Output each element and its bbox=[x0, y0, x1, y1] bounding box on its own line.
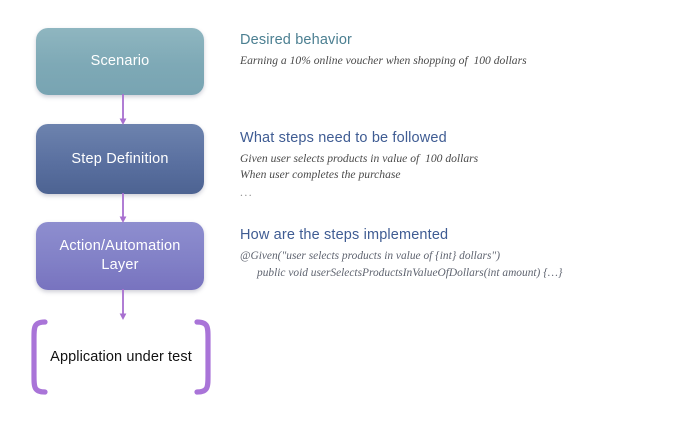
annotation-line: When user completes the purchase bbox=[240, 167, 692, 183]
flow-node-label: Step Definition bbox=[63, 150, 176, 169]
code-line: public void userSelectsProductsInValueOf… bbox=[240, 265, 692, 282]
annotation-desired-behavior: Desired behavior Earning a 10% online vo… bbox=[240, 32, 692, 69]
flow-node-label: Action/Automation Layer bbox=[51, 237, 188, 274]
annotation-heading: Desired behavior bbox=[240, 32, 692, 48]
flow-node-scenario[interactable]: Scenario bbox=[36, 28, 204, 95]
flow-node-application-under-test[interactable]: Application under test bbox=[24, 318, 218, 396]
arrow-down-icon-step-definition-to-action-layer bbox=[117, 193, 129, 223]
annotation-heading: How are the steps implemented bbox=[240, 227, 692, 243]
annotation-ellipsis: ... bbox=[240, 184, 692, 203]
annotation-line: Earning a 10% online voucher when shoppi… bbox=[240, 53, 692, 69]
arrow-down-icon-scenario-to-step-definition bbox=[117, 94, 129, 125]
flow-node-step-definition[interactable]: Step Definition bbox=[36, 124, 204, 194]
flow-node-label: Application under test bbox=[24, 318, 218, 396]
arrow-down-icon-action-layer-to-application-under-test bbox=[117, 289, 129, 320]
flow-node-action-automation-layer[interactable]: Action/Automation Layer bbox=[36, 222, 204, 290]
annotation-heading: What steps need to be followed bbox=[240, 130, 692, 146]
code-line: @Given("user selects products in value o… bbox=[240, 248, 692, 265]
annotation-line: Given user selects products in value of … bbox=[240, 151, 692, 167]
annotation-what-steps: What steps need to be followed Given use… bbox=[240, 130, 692, 202]
diagram-canvas: Scenario Step Definition Action/Automati… bbox=[0, 0, 700, 429]
flow-node-label: Scenario bbox=[83, 52, 158, 71]
annotation-how-implemented: How are the steps implemented @Given("us… bbox=[240, 227, 692, 282]
